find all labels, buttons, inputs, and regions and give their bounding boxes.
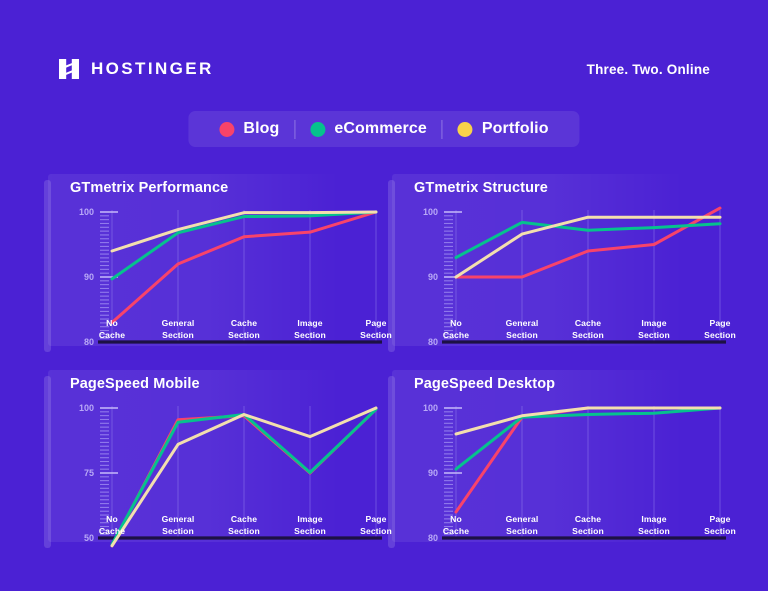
x-axis-tick-label: PageSection: [704, 514, 736, 537]
x-axis-tick-label: CacheSection: [228, 514, 260, 537]
x-axis-tick-label: CacheSection: [572, 514, 604, 537]
x-axis-tick-label: ImageSection: [294, 514, 326, 537]
y-axis-tick-label: 90: [84, 272, 94, 282]
brand-name: HOSTINGER: [91, 59, 214, 79]
x-axis-labels: NoCacheGeneralSectionCacheSectionImageSe…: [66, 514, 384, 548]
page-header: HOSTINGER Three. Two. Online: [0, 52, 768, 86]
x-axis-tick-label: CacheSection: [572, 318, 604, 341]
y-axis-tick-label: 90: [428, 272, 438, 282]
brand-logo: HOSTINGER: [58, 57, 214, 81]
series-legend: BlogeCommercePortfolio: [188, 111, 579, 147]
legend-item-ecommerce[interactable]: eCommerce: [295, 120, 442, 138]
hostinger-h-logo-icon: [58, 57, 80, 81]
x-axis-labels: NoCacheGeneralSectionCacheSectionImageSe…: [410, 318, 728, 352]
chart-card-accent-bar: [44, 376, 51, 548]
x-axis-tick-label: ImageSection: [294, 318, 326, 341]
chart-title: PageSpeed Mobile: [70, 376, 200, 392]
infographic-root: HOSTINGER Three. Two. Online BlogeCommer…: [0, 0, 768, 591]
legend-item-portfolio[interactable]: Portfolio: [443, 120, 564, 138]
x-axis-tick-label: NoCache: [443, 514, 469, 537]
y-axis-tick-label: 100: [423, 207, 438, 217]
chart-title: GTmetrix Performance: [70, 180, 228, 196]
chart-title: PageSpeed Desktop: [414, 376, 555, 392]
y-axis-tick-label: 100: [79, 207, 94, 217]
y-axis-tick-label: 100: [79, 403, 94, 413]
chart-grid: GTmetrix Performance8090100NoCacheGenera…: [44, 168, 728, 558]
legend-dot-blog: [219, 122, 234, 137]
legend-label: eCommerce: [334, 120, 427, 138]
chart-card-pagespeed-desktop: PageSpeed Desktop8090100NoCacheGeneralSe…: [388, 364, 732, 554]
x-axis-tick-label: ImageSection: [638, 318, 670, 341]
x-axis-tick-label: CacheSection: [228, 318, 260, 341]
chart-card-pagespeed-mobile: PageSpeed Mobile5075100NoCacheGeneralSec…: [44, 364, 388, 554]
chart-card-accent-bar: [44, 180, 51, 352]
y-axis-tick-label: 75: [84, 468, 94, 478]
legend-item-blog[interactable]: Blog: [204, 120, 294, 138]
chart-card-accent-bar: [388, 180, 395, 352]
x-axis-tick-label: ImageSection: [638, 514, 670, 537]
x-axis-labels: NoCacheGeneralSectionCacheSectionImageSe…: [66, 318, 384, 352]
x-axis-tick-label: GeneralSection: [162, 514, 195, 537]
x-axis-tick-label: GeneralSection: [506, 514, 539, 537]
chart-card-gtmetrix-performance: GTmetrix Performance8090100NoCacheGenera…: [44, 168, 388, 358]
x-axis-labels: NoCacheGeneralSectionCacheSectionImageSe…: [410, 514, 728, 548]
x-axis-tick-label: GeneralSection: [162, 318, 195, 341]
chart-title: GTmetrix Structure: [414, 180, 548, 196]
y-axis-tick-label: 100: [423, 403, 438, 413]
chart-card-accent-bar: [388, 376, 395, 548]
x-axis-tick-label: GeneralSection: [506, 318, 539, 341]
tagline: Three. Two. Online: [587, 62, 710, 77]
legend-dot-ecommerce: [310, 122, 325, 137]
chart-card-gtmetrix-structure: GTmetrix Structure8090100NoCacheGeneralS…: [388, 168, 732, 358]
legend-label: Blog: [243, 120, 279, 138]
x-axis-tick-label: NoCache: [99, 514, 125, 537]
x-axis-tick-label: NoCache: [443, 318, 469, 341]
x-axis-tick-label: NoCache: [99, 318, 125, 341]
legend-label: Portfolio: [482, 120, 549, 138]
legend-dot-portfolio: [458, 122, 473, 137]
y-axis-tick-label: 90: [428, 468, 438, 478]
x-axis-tick-label: PageSection: [704, 318, 736, 341]
